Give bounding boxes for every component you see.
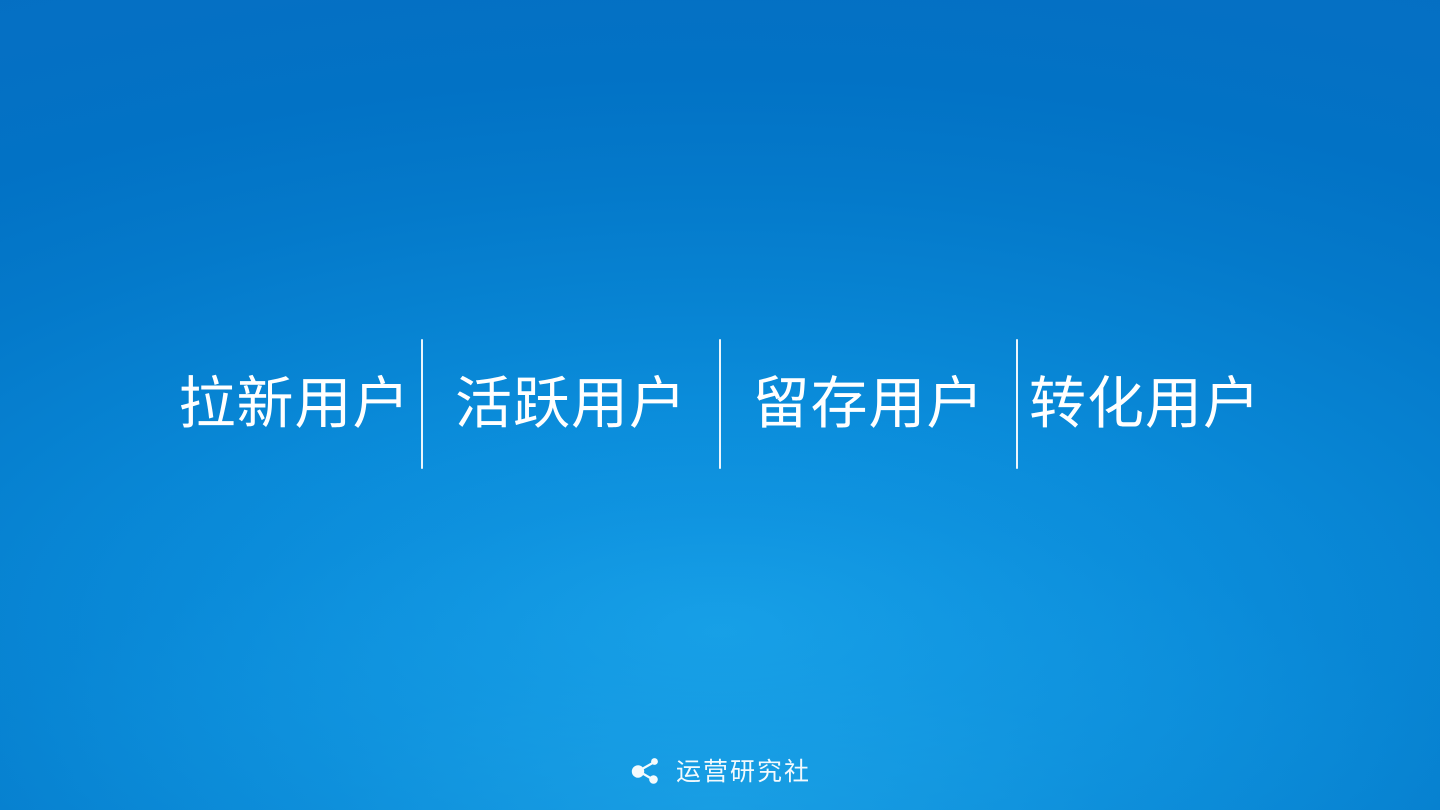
stage-item-conversion[interactable]: 转化用户 [1018, 338, 1272, 470]
stage-item-retention[interactable]: 留存用户 [721, 338, 1016, 470]
stage-label: 活跃用户 [455, 376, 687, 433]
stage-item-activation[interactable]: 活跃用户 [423, 338, 719, 470]
stage-item-acquisition[interactable]: 拉新用户 [168, 338, 421, 470]
stage-divider-2 [719, 339, 721, 469]
brand-lockup: 运营研究社 [0, 754, 1440, 788]
stage-divider-1 [421, 339, 423, 469]
slide-canvas: 拉新用户 活跃用户 留存用户 转化用户 运营研究社 [0, 0, 1440, 810]
user-lifecycle-stage-band: 拉新用户 活跃用户 留存用户 转化用户 [0, 338, 1440, 470]
stage-label: 拉新用户 [179, 376, 411, 433]
stage-divider-3 [1016, 339, 1018, 469]
stage-label: 留存用户 [753, 376, 985, 433]
share-network-icon [629, 754, 663, 788]
stage-label: 转化用户 [1029, 376, 1261, 433]
brand-name: 运营研究社 [676, 759, 811, 784]
